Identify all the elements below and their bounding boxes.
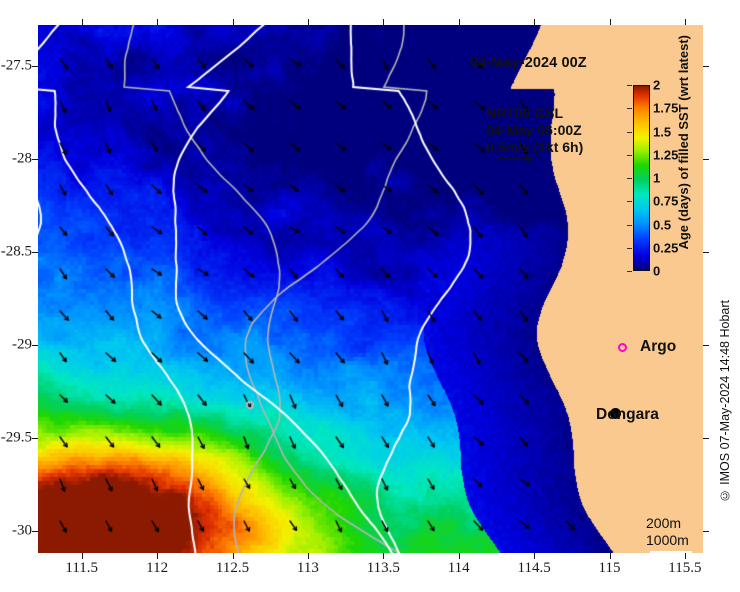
vector-legend-text: NRT00 GSL 04-May 06:00Z 0.5m/s (1kt 6h): [486, 105, 583, 156]
argo-legend-entry: Argo: [618, 338, 676, 356]
vector-legend-line1: NRT00 GSL: [486, 105, 583, 122]
y-axis-tick-right: [703, 66, 709, 67]
vector-arrow-icon: [496, 153, 534, 165]
y-axis-tick: [32, 438, 38, 439]
colorbar-title: Age (days) of filled SST (wrt latest): [676, 35, 691, 250]
x-axis-tick-label: 112.5: [216, 560, 249, 577]
x-axis-tick: [308, 553, 309, 559]
y-axis-tick-label: -29: [12, 336, 32, 353]
colorbar-tick: [627, 225, 632, 226]
x-axis-tick-top: [157, 19, 158, 25]
colorbar-tick: [627, 85, 632, 86]
x-axis-tick: [534, 553, 535, 559]
colorbar-tick: [627, 155, 632, 156]
x-axis-tick: [685, 553, 686, 559]
x-axis-tick-top: [534, 19, 535, 25]
x-axis-tick-top: [610, 19, 611, 25]
copyright-credit: © IMOS 07-May-2024 14:48 Hobart: [718, 300, 732, 502]
depth-contour-legend: 200m 1000m: [646, 515, 689, 549]
colorbar-tick: [627, 271, 632, 272]
y-axis-tick-right: [703, 345, 709, 346]
colorbar-tick-label: 1.75: [653, 101, 678, 116]
depth-200m-label: 200m: [646, 515, 689, 532]
colorbar-tick: [627, 132, 632, 133]
x-axis-tick-label: 115.5: [668, 560, 701, 577]
argo-marker-icon: [618, 343, 627, 352]
y-axis-tick-label: -28: [12, 150, 32, 167]
y-axis-tick-right: [703, 159, 709, 160]
colorbar-tick: [627, 178, 632, 179]
colorbar-tick-label: 1.5: [653, 124, 671, 139]
dongara-place-label: Dongara: [596, 406, 659, 424]
y-axis-tick-label: -30: [12, 522, 32, 539]
x-axis-tick-label: 114.5: [518, 560, 551, 577]
y-axis-tick: [32, 66, 38, 67]
x-axis-tick: [157, 553, 158, 559]
colorbar-tick: [627, 201, 632, 202]
y-axis-tick-label: -28.5: [1, 243, 32, 260]
y-axis-tick-label: -27.5: [1, 57, 32, 74]
colorbar-tick-label: 0.75: [653, 194, 678, 209]
x-axis-tick: [82, 553, 83, 559]
x-axis-tick: [233, 553, 234, 559]
sst-age-map-figure: 04-May-2024 00Z NRT00 GSL 04-May 06:00Z …: [0, 0, 740, 592]
date-stamp-label: 04-May-2024 00Z: [470, 55, 587, 71]
colorbar-tick: [627, 248, 632, 249]
colorbar-tick-label: 0.5: [653, 217, 671, 232]
x-axis-tick-label: 112: [146, 560, 168, 577]
x-axis-tick-label: 111.5: [65, 560, 98, 577]
x-axis-tick-top: [459, 19, 460, 25]
colorbar-tick-label: 1: [653, 171, 660, 186]
x-axis-tick-label: 113.5: [367, 560, 400, 577]
x-axis-tick: [459, 553, 460, 559]
x-axis-tick-top: [383, 19, 384, 25]
x-axis-tick-top: [82, 19, 83, 25]
colorbar-tick-label: 1.25: [653, 147, 678, 162]
y-axis-tick: [32, 159, 38, 160]
x-axis-tick-label: 115: [599, 560, 621, 577]
colorbar-gradient: [633, 85, 650, 271]
y-axis-tick-label: -29.5: [1, 429, 32, 446]
y-axis-tick-right: [703, 252, 709, 253]
y-axis-tick: [32, 531, 38, 532]
colorbar-tick-label: 0.25: [653, 240, 678, 255]
y-axis-tick: [32, 252, 38, 253]
x-axis-tick: [383, 553, 384, 559]
map-plot-area[interactable]: 04-May-2024 00Z NRT00 GSL 04-May 06:00Z …: [38, 25, 703, 553]
colorbar-tick: [627, 108, 632, 109]
x-axis-tick-top: [685, 19, 686, 25]
depth-1000m-label: 1000m: [646, 532, 689, 549]
x-axis-tick-top: [233, 19, 234, 25]
y-axis-tick: [32, 345, 38, 346]
colorbar-tick-label: 2: [653, 78, 660, 93]
vector-legend-line2: 04-May 06:00Z: [486, 122, 583, 139]
x-axis-tick-label: 114: [448, 560, 470, 577]
y-axis-tick-right: [703, 531, 709, 532]
colorbar-tick-label: 0: [653, 264, 660, 279]
sst-age-heatmap-canvas: [38, 25, 703, 553]
argo-legend-label: Argo: [640, 338, 676, 356]
x-axis-tick-top: [308, 19, 309, 25]
x-axis-tick-label: 113: [297, 560, 319, 577]
y-axis-tick-right: [703, 438, 709, 439]
x-axis-tick: [610, 553, 611, 559]
